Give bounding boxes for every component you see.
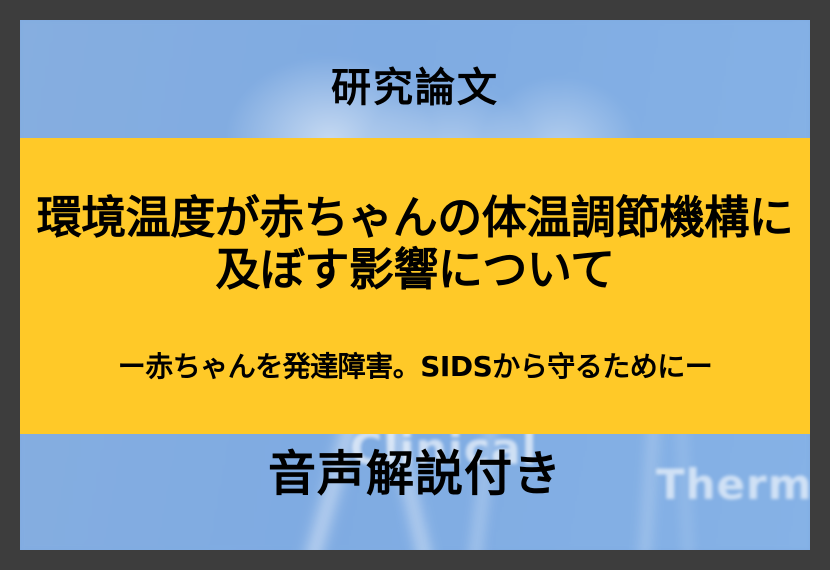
page-title: 環境温度が赤ちゃんの体温調節機構に 及ぼす影響について: [20, 192, 810, 296]
page-title-line-2: 及ぼす影響について: [20, 244, 810, 296]
page-title-line-1: 環境温度が赤ちゃんの体温調節機構に: [20, 192, 810, 244]
page-subtitle: ー赤ちゃんを発達障害。SIDSから守るためにー: [20, 345, 810, 385]
poster-card: Clinical Therm 研究論文 環境温度が赤ちゃんの体温調節機構に 及ぼ…: [20, 20, 810, 550]
poster-root: Clinical Therm 研究論文 環境温度が赤ちゃんの体温調節機構に 及ぼ…: [0, 0, 830, 570]
page-eyebrow: 研究論文: [20, 68, 810, 108]
audio-commentary-badge: 音声解説付き: [20, 450, 810, 498]
